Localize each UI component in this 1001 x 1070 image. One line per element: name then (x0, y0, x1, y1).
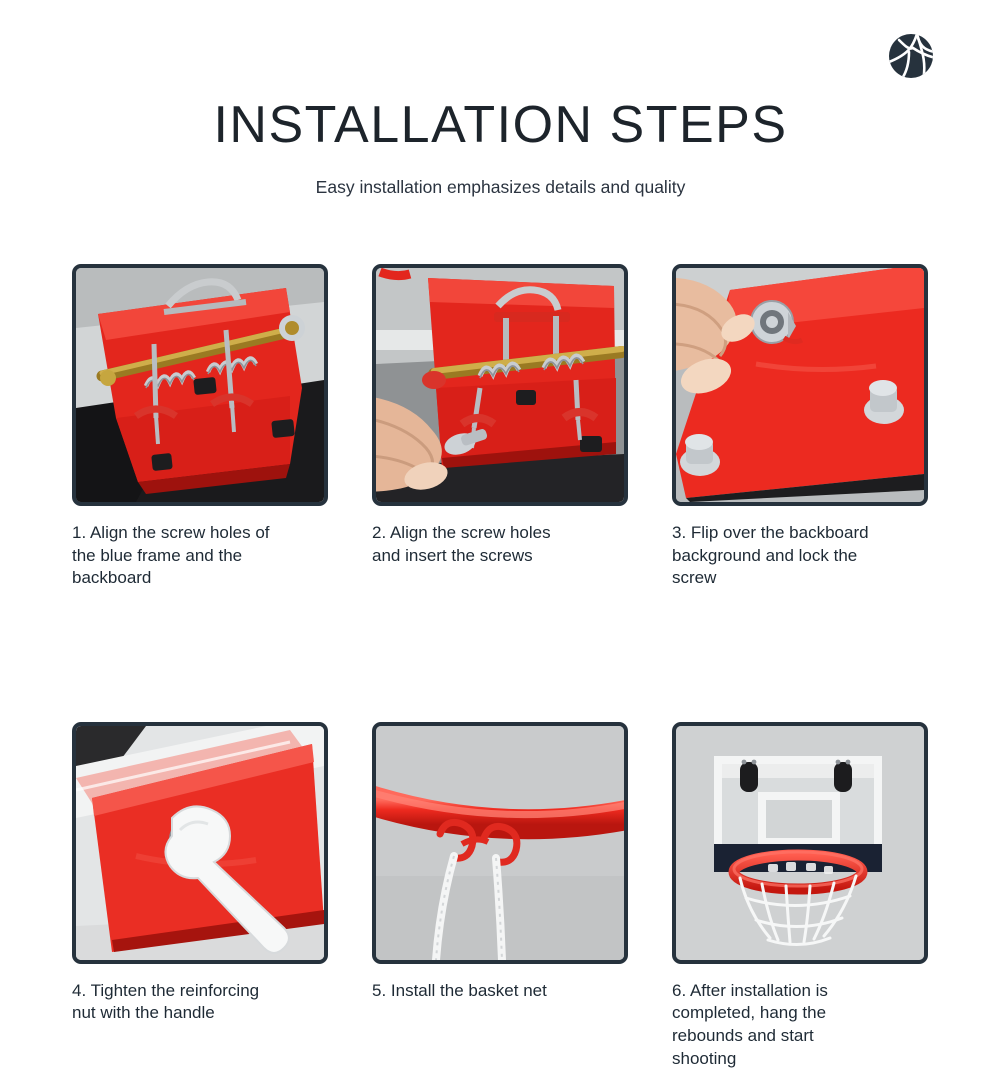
step-item-2: 2. Align the screw holes and insert the … (372, 264, 628, 590)
step-photo-5 (372, 722, 628, 964)
installation-steps-grid: 1. Align the screw holes of the blue fra… (72, 264, 928, 1070)
basketball-logo (883, 28, 939, 84)
page-subtitle: Easy installation emphasizes details and… (0, 177, 1001, 198)
header: INSTALLATION STEPS Easy installation emp… (0, 98, 1001, 198)
page-title: INSTALLATION STEPS (0, 98, 1001, 153)
step-caption-1: 1. Align the screw holes of the blue fra… (72, 522, 328, 590)
step-caption-6: 6. After installation is completed, hang… (672, 980, 928, 1070)
step-caption-5: 5. Install the basket net (372, 980, 628, 1003)
step-item-3: 3. Flip over the backboard background an… (672, 264, 928, 590)
step-item-6: 6. After installation is completed, hang… (672, 722, 928, 1070)
step-caption-3: 3. Flip over the backboard background an… (672, 522, 928, 590)
step-photo-1 (72, 264, 328, 506)
step-caption-4: 4. Tighten the reinforcing nut with the … (72, 980, 328, 1025)
step-caption-2: 2. Align the screw holes and insert the … (372, 522, 628, 567)
step-photo-3 (672, 264, 928, 506)
step-photo-6 (672, 722, 928, 964)
step-item-4: 4. Tighten the reinforcing nut with the … (72, 722, 328, 1070)
step-item-5: 5. Install the basket net (372, 722, 628, 1070)
step-photo-4 (72, 722, 328, 964)
step-item-1: 1. Align the screw holes of the blue fra… (72, 264, 328, 590)
step-photo-2 (372, 264, 628, 506)
